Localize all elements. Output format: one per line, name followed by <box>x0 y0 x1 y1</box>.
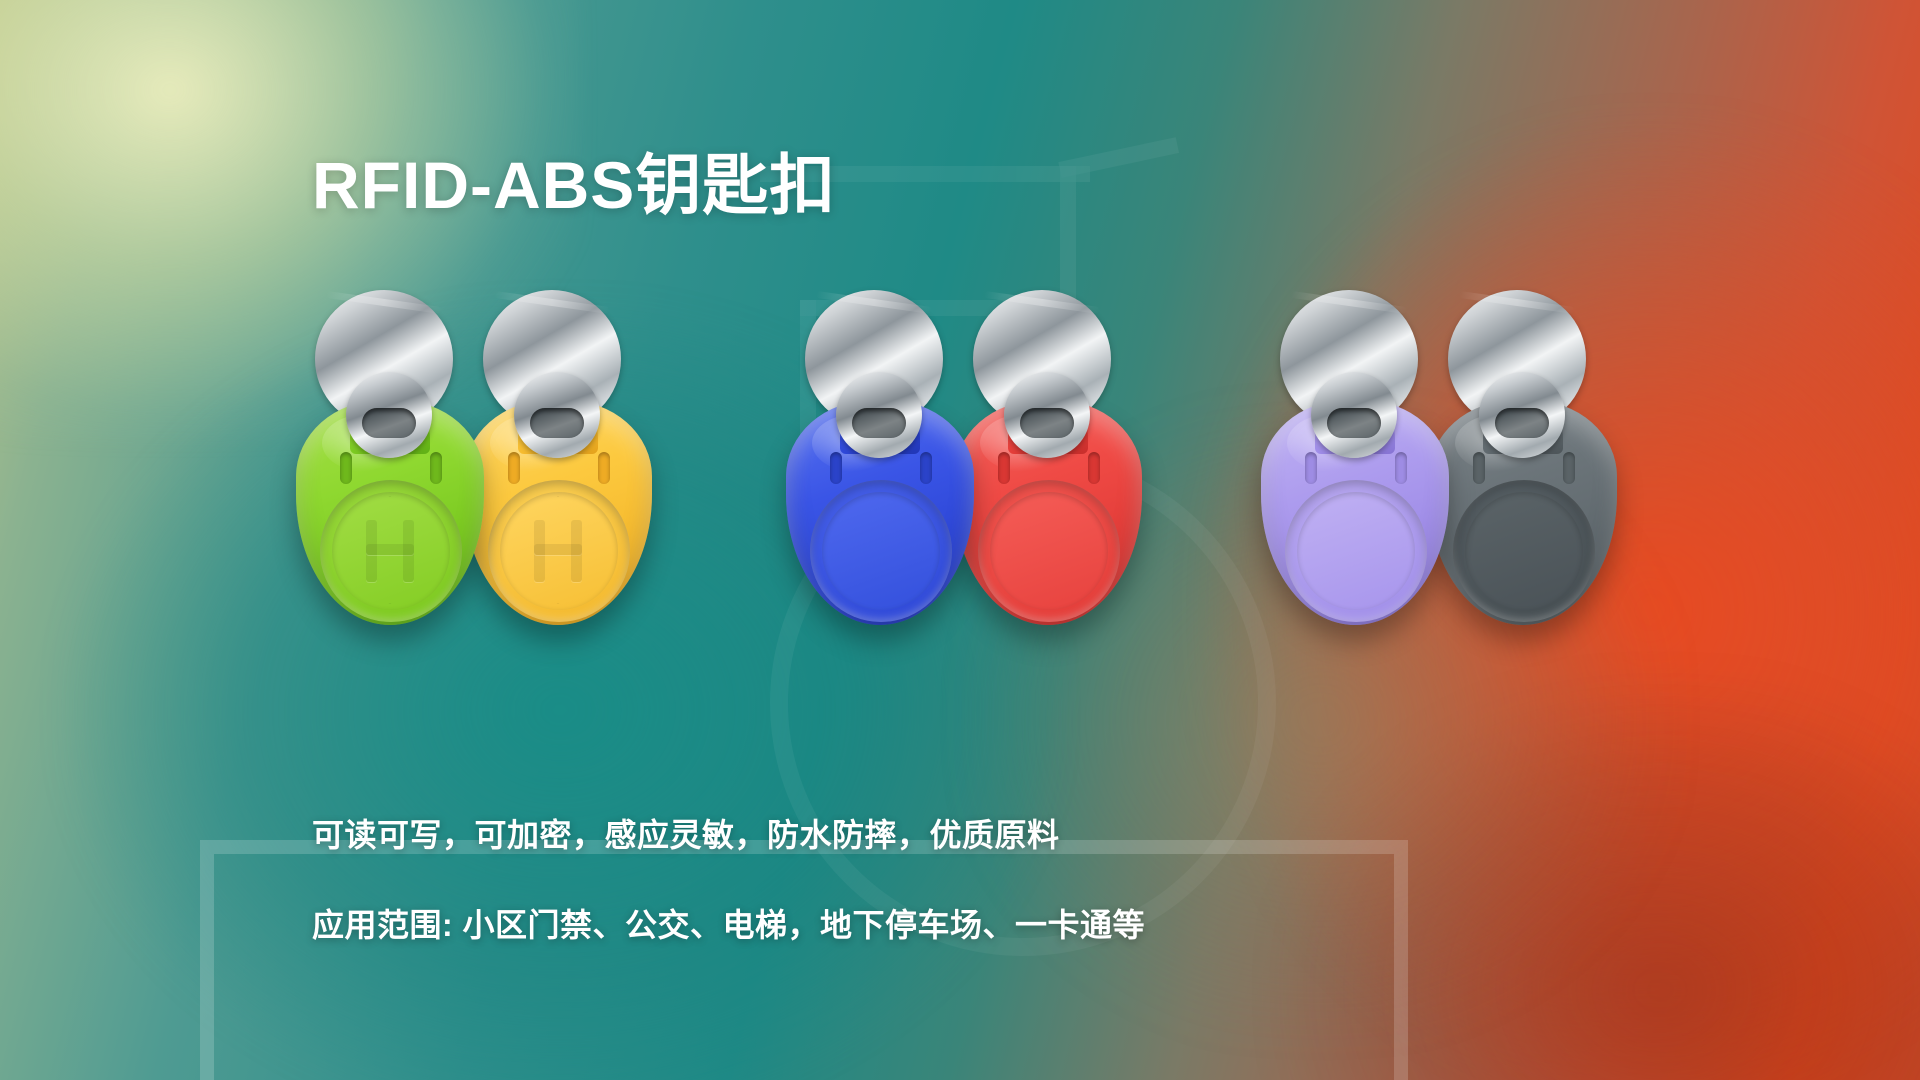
keyfob-disc-inner <box>822 492 940 610</box>
keyfob-vent-slot <box>920 452 932 484</box>
keyfob-vent-slot <box>1305 452 1317 484</box>
keyfob-ring-hole <box>362 408 416 438</box>
keyfob-vent-slot <box>1088 452 1100 484</box>
keyfob-vent-slot <box>508 452 520 484</box>
feature-line-applications: 应用范围: 小区门禁、公交、电梯，地下停车场、一卡通等 <box>312 900 1612 946</box>
keyfob-ring-hole <box>1495 408 1549 438</box>
feature-line-properties: 可读可写，可加密，感应灵敏，防水防摔，优质原料 <box>312 810 1612 856</box>
keyfob-ring-hole <box>1327 408 1381 438</box>
keyfob-disc-inner <box>1297 492 1415 610</box>
product-banner: RFID-ABS钥匙扣 <box>0 0 1920 1080</box>
keyfob-vent-slot <box>1563 452 1575 484</box>
keyfob-vent-slot <box>598 452 610 484</box>
keyfob-ring-hole <box>1020 408 1074 438</box>
keyfob-disc <box>978 480 1120 622</box>
keyfob-pair-purple-gray <box>1255 280 1675 730</box>
keyfob-vent-slot <box>998 452 1010 484</box>
keyfob-disc-inner <box>1465 492 1583 610</box>
keyfob-disc <box>1285 480 1427 622</box>
purple-keyfob <box>1255 280 1455 730</box>
feature-text-block: 可读可写，可加密，感应灵敏，防水防摔，优质原料 应用范围: 小区门禁、公交、电梯… <box>312 810 1612 946</box>
keyfob-vent-slot <box>1473 452 1485 484</box>
keyfob-pair-blue-red <box>780 280 1200 730</box>
emblem-bar <box>403 520 414 582</box>
product-image-group <box>0 280 1920 730</box>
keyfob-pair-green-yellow <box>290 280 710 730</box>
keyfob-disc-inner <box>990 492 1108 610</box>
keyfob-disc <box>1453 480 1595 622</box>
blue-keyfob <box>780 280 980 730</box>
page-title: RFID-ABS钥匙扣 <box>312 132 836 228</box>
emblem-bar <box>571 520 582 582</box>
keyfob-vent-slot <box>1395 452 1407 484</box>
keyfob-ring-hole <box>530 408 584 438</box>
keyfob-emblem <box>334 494 446 606</box>
green-keyfob <box>290 280 490 730</box>
keyfob-ring-hole <box>852 408 906 438</box>
keyfob-disc <box>810 480 952 622</box>
keyfob-vent-slot <box>430 452 442 484</box>
keyfob-emblem <box>502 494 614 606</box>
keyfob-vent-slot <box>340 452 352 484</box>
keyfob-vent-slot <box>830 452 842 484</box>
